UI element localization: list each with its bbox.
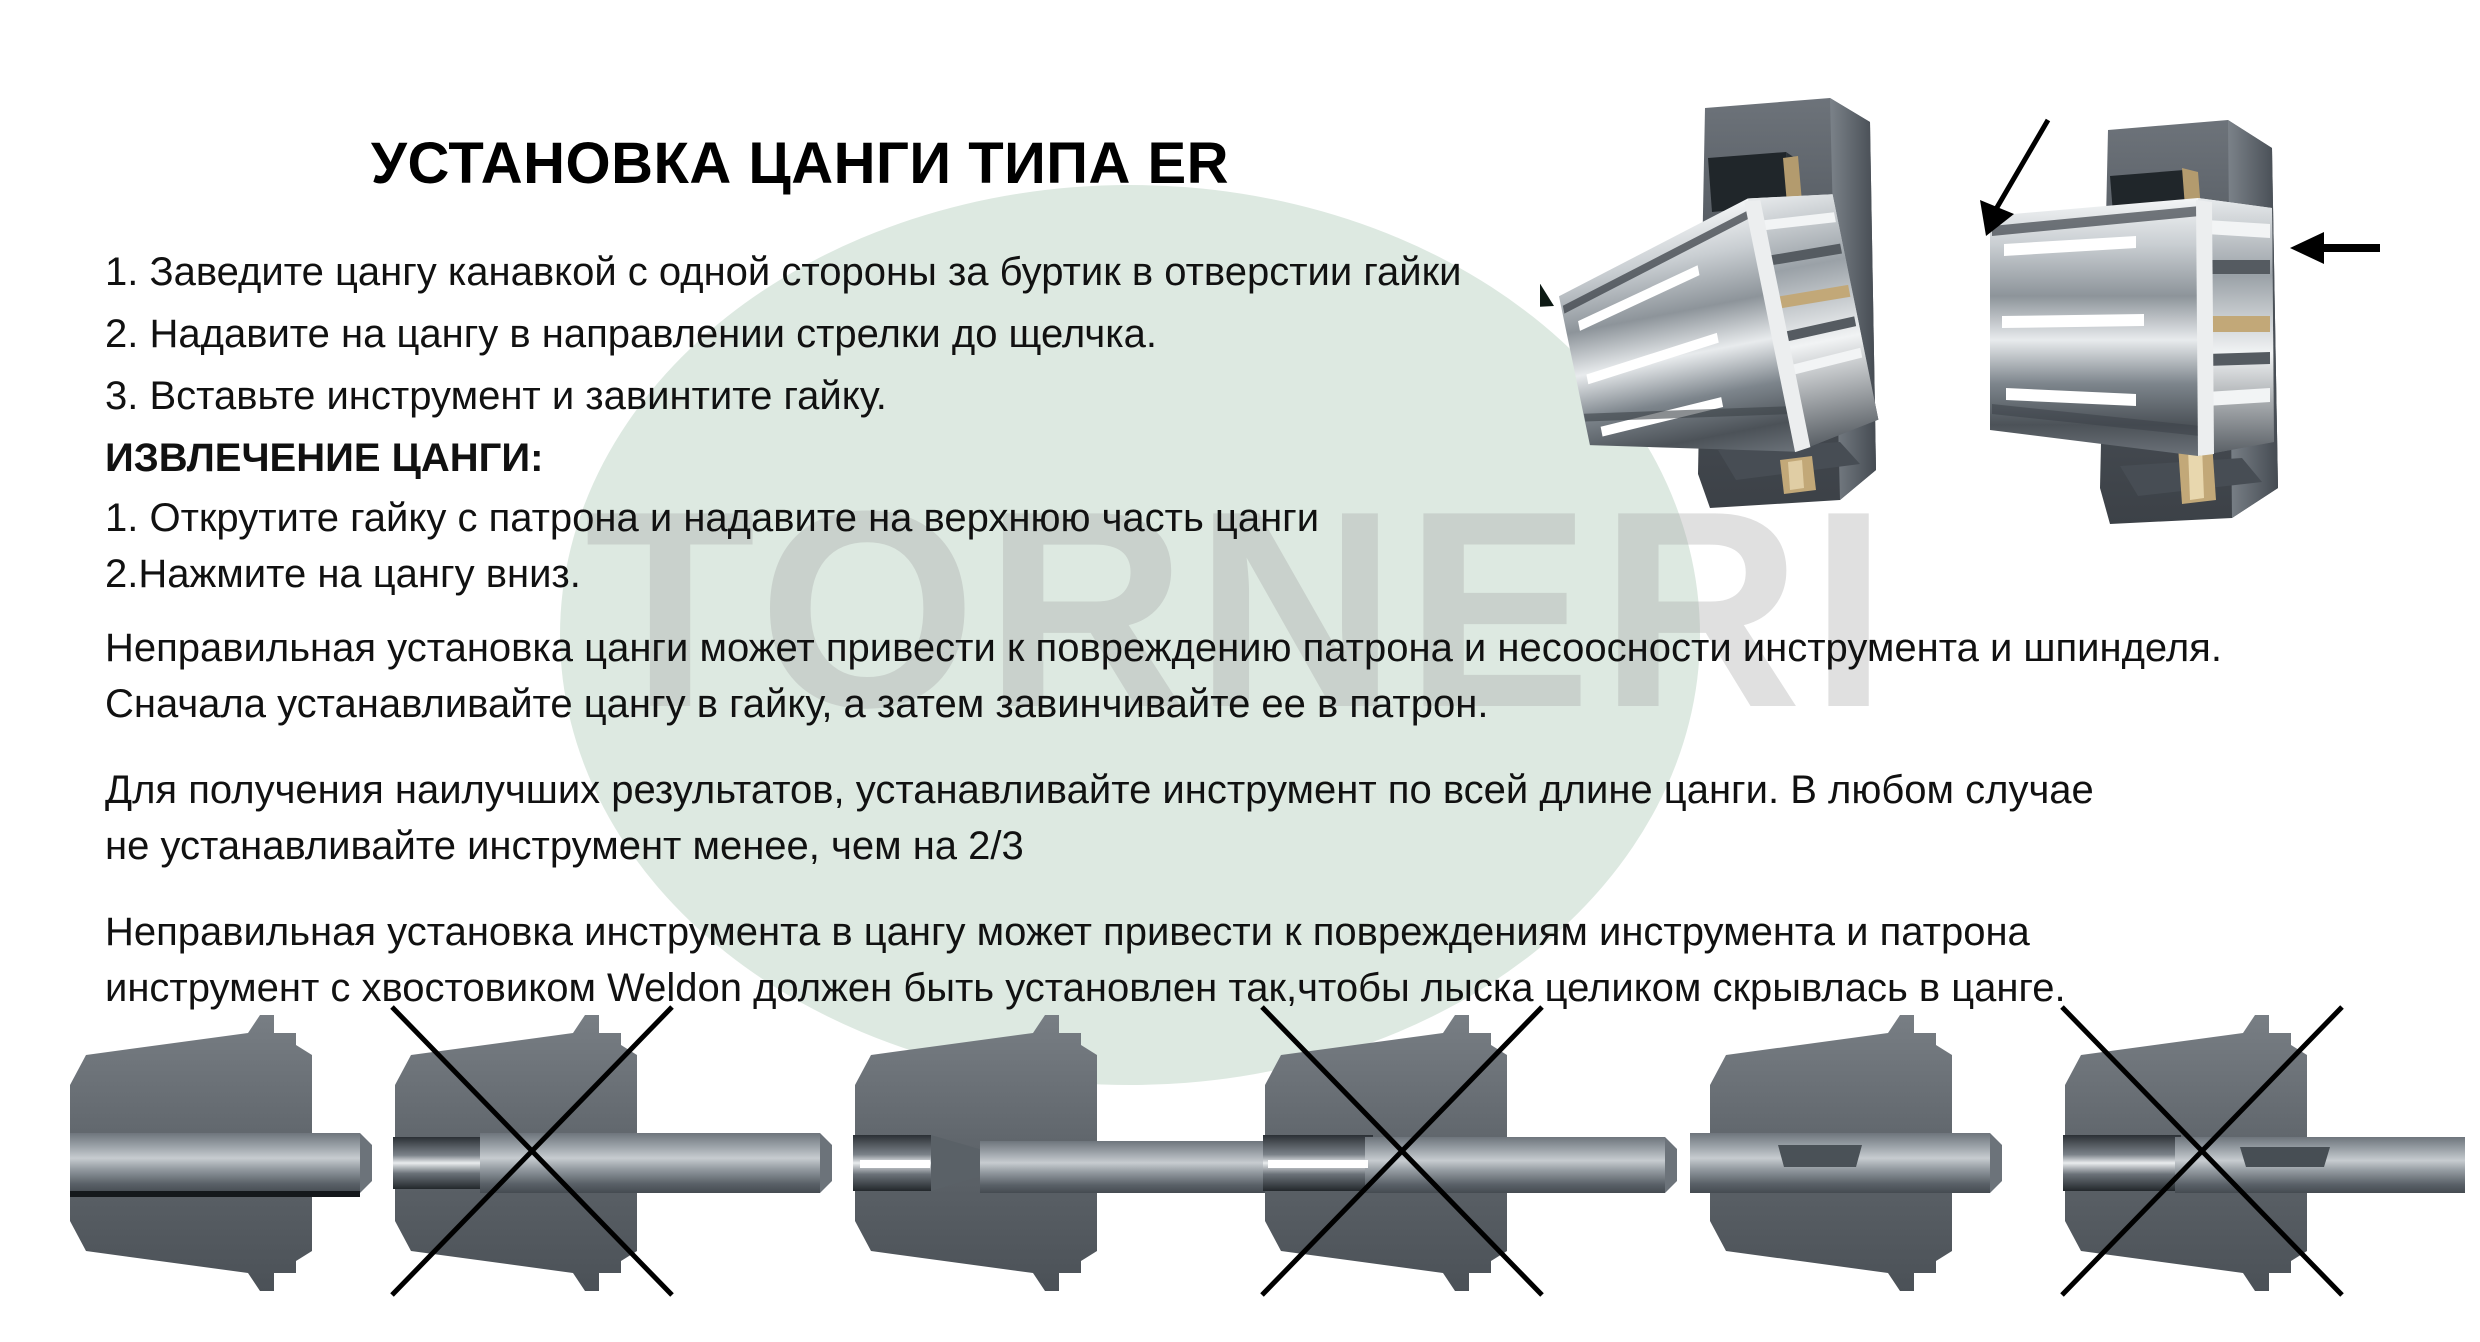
warning-2-line-1: Для получения наилучших результатов, уст… (105, 770, 2425, 810)
collet-seated (1990, 198, 2274, 456)
tool-insertion-examples (0, 985, 2480, 1315)
warning-1-line-1: Неправильная установка цанги может приве… (105, 628, 2425, 668)
instruction-sheet: TORNERI УСТАНОВКА ЦАНГИ ТИПА ER 1. Завед… (0, 0, 2480, 1342)
warning-1-line-2: Сначала устанавливайте цангу в гайку, а … (105, 684, 2425, 724)
example-4-incorrect (1262, 1007, 1677, 1295)
example-6-incorrect (2062, 1007, 2465, 1295)
example-1-correct (70, 1015, 372, 1291)
curved-arrow-icon (1540, 274, 1554, 440)
page-title: УСТАНОВКА ЦАНГИ ТИПА ER (0, 130, 1600, 197)
figure-collet-seated-in-nut (1960, 48, 2480, 568)
warning-2-line-2: не устанавливайте инструмент менее, чем … (105, 826, 2425, 866)
warning-3-line-1: Неправильная установка инструмента в цан… (105, 912, 2425, 952)
example-5-correct (1690, 1015, 2002, 1291)
example-2-incorrect (392, 1007, 832, 1295)
example-3-correct (853, 1015, 1292, 1291)
horizontal-arrow-icon (2290, 232, 2380, 264)
